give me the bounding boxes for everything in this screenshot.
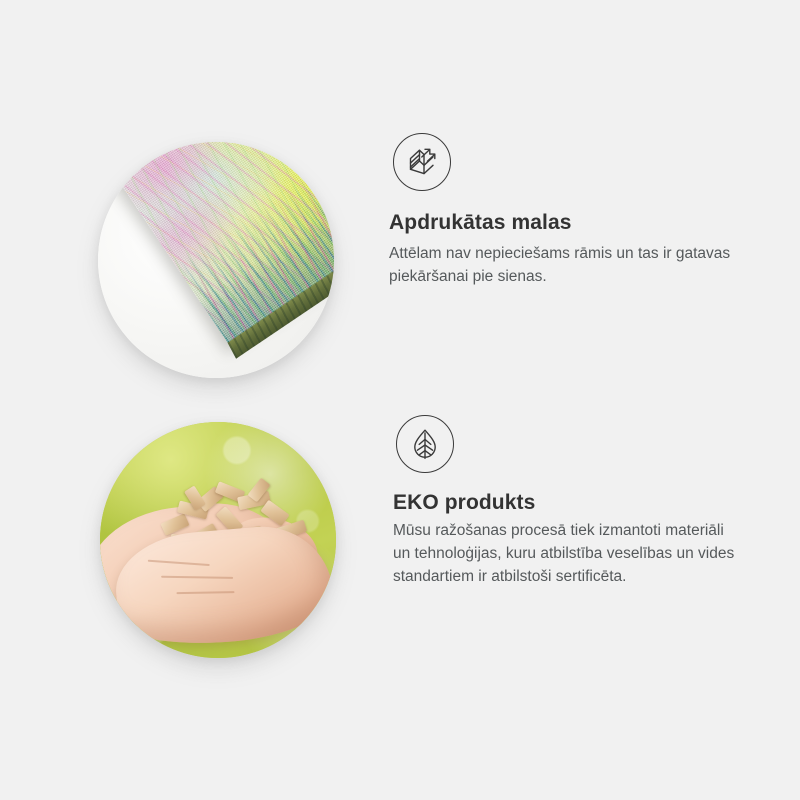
product-features-page: Apdrukātas malas Attēlam nav nepieciešam… (0, 0, 800, 800)
feature-1-media (0, 120, 380, 400)
feature-1-description: Attēlam nav nepieciešams rāmis un tas ir… (389, 243, 749, 289)
hands-wood-chips-photo (100, 422, 336, 658)
feature-2-title: EKO produkts (393, 490, 800, 515)
feature-2-description: Mūsu ražošanas procesā tiek izmantoti ma… (393, 520, 745, 589)
feature-1-text-column: Apdrukātas malas Attēlam nav nepieciešam… (380, 120, 800, 289)
leaf-icon-glyph (408, 427, 442, 461)
feature-2-media (0, 400, 380, 680)
leaf-icon (396, 415, 454, 473)
feature-block-printed-edges: Apdrukātas malas Attēlam nav nepieciešam… (0, 120, 800, 400)
feature-2-text-column: EKO produkts Mūsu ražošanas procesā tiek… (380, 400, 800, 589)
printed-edges-icon (393, 133, 451, 191)
feature-block-eco-product: EKO produkts Mūsu ražošanas procesā tiek… (0, 400, 800, 690)
canvas-corner-photo (98, 142, 334, 378)
printed-edges-icon-glyph (404, 144, 440, 180)
feature-1-title: Apdrukātas malas (389, 210, 800, 235)
